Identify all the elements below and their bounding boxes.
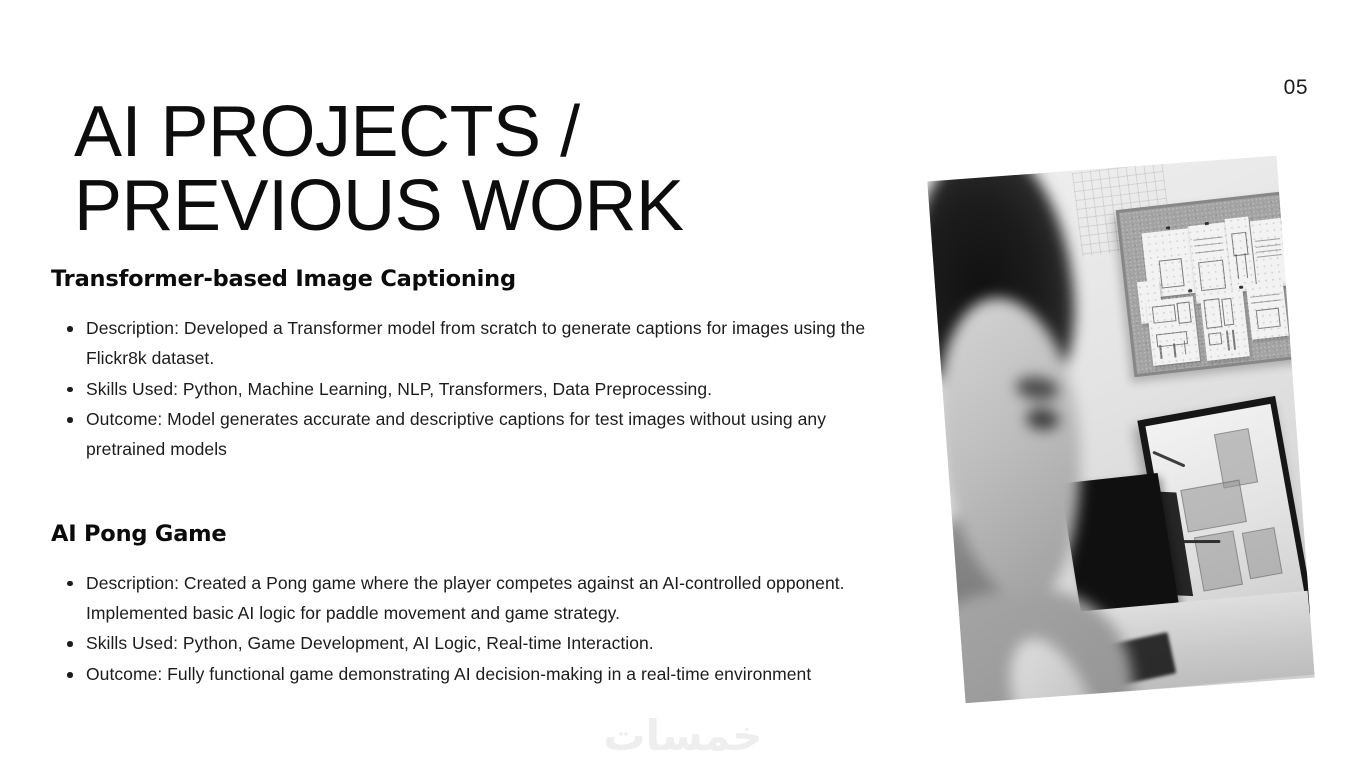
pinned-sheet bbox=[1142, 228, 1196, 298]
page-number: 05 bbox=[1284, 76, 1308, 100]
pushpin-icon bbox=[1166, 227, 1170, 230]
list-item: Description: Developed a Transformer mod… bbox=[51, 314, 881, 374]
list-item: Skills Used: Python, Game Development, A… bbox=[51, 629, 881, 659]
corkboard bbox=[1116, 191, 1308, 377]
slide-canvas: AI PROJECTS / PREVIOUS WORK 05 Transform… bbox=[0, 0, 1366, 768]
pinned-sheet bbox=[1199, 289, 1250, 362]
pushpin-icon bbox=[1239, 286, 1243, 289]
list-item: Outcome: Fully functional game demonstra… bbox=[51, 660, 881, 690]
project-block-transformer: Transformer-based Image Captioning Descr… bbox=[51, 266, 881, 465]
pinned-sheet bbox=[1137, 280, 1163, 324]
pushpin-icon bbox=[1189, 290, 1193, 293]
list-item: Description: Created a Pong game where t… bbox=[51, 569, 881, 629]
project-bullet-list: Description: Created a Pong game where t… bbox=[51, 569, 881, 690]
photo-content bbox=[927, 156, 1314, 703]
pinned-sheet bbox=[1246, 281, 1289, 340]
project-block-pong: AI Pong Game Description: Created a Pong… bbox=[51, 521, 881, 690]
watermark: خمسات bbox=[0, 711, 1366, 760]
pinned-sheet bbox=[1146, 296, 1200, 366]
project-heading: AI Pong Game bbox=[51, 521, 881, 547]
pinned-sheet bbox=[1250, 218, 1288, 289]
project-heading: Transformer-based Image Captioning bbox=[51, 266, 881, 292]
pinned-sheet bbox=[1225, 217, 1257, 294]
list-item: Skills Used: Python, Machine Learning, N… bbox=[51, 375, 881, 405]
projects-content: Transformer-based Image Captioning Descr… bbox=[51, 266, 881, 691]
workspace-photo bbox=[927, 156, 1314, 703]
page-title: AI PROJECTS / PREVIOUS WORK bbox=[74, 96, 894, 243]
project-bullet-list: Description: Developed a Transformer mod… bbox=[51, 314, 881, 465]
pinned-sheet bbox=[1188, 222, 1233, 303]
pushpin-icon bbox=[1205, 223, 1209, 226]
list-item: Outcome: Model generates accurate and de… bbox=[51, 405, 881, 465]
